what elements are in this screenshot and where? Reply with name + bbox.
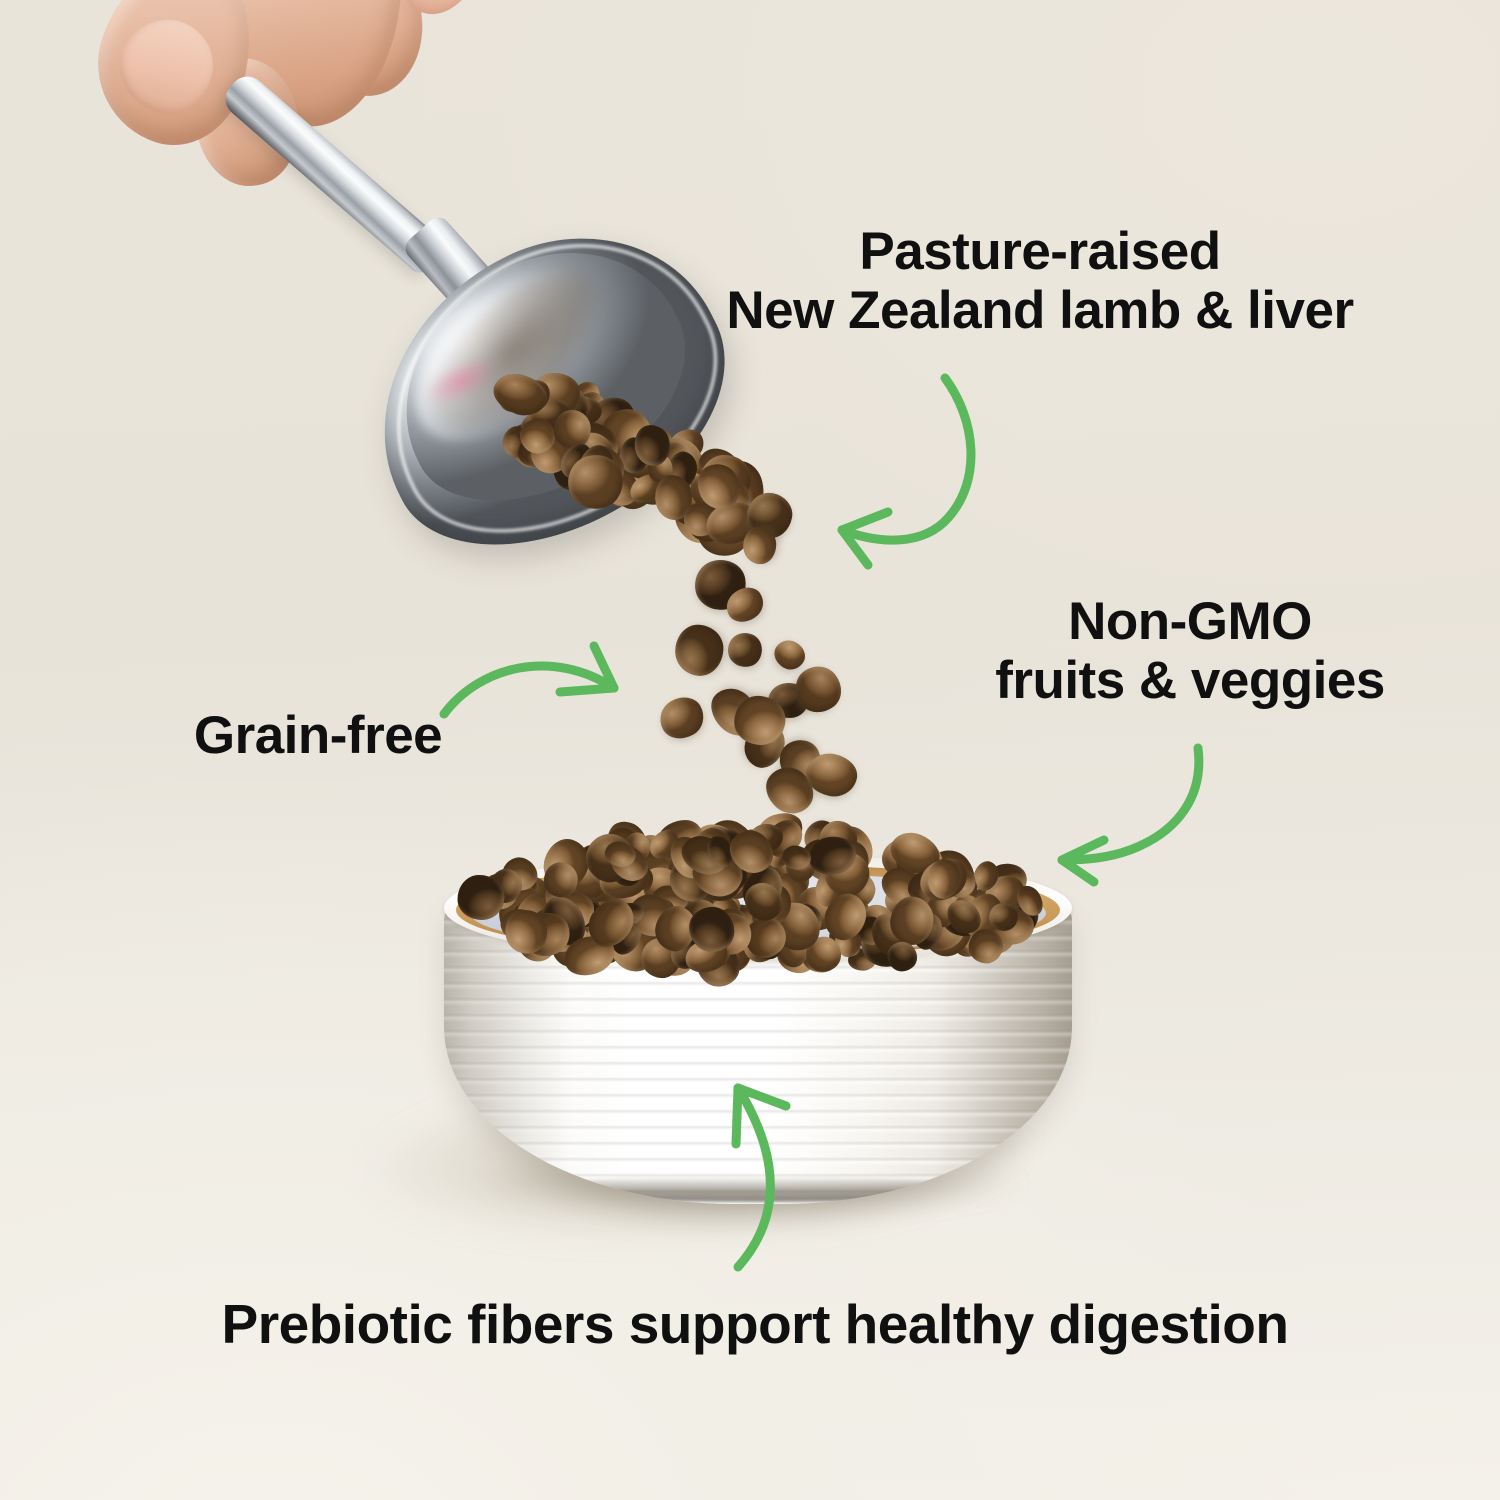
callout-non-gmo: Non-GMO fruits & veggies <box>905 592 1475 711</box>
arrow-pasture-raised <box>800 360 1030 570</box>
arrow-non-gmo <box>1038 740 1253 885</box>
arrow-prebiotic <box>694 1062 824 1277</box>
thumbnail <box>102 1 232 131</box>
callout-grain-free: Grain-free <box>108 706 528 765</box>
callout-prebiotic-fibers: Prebiotic fibers support healthy digesti… <box>60 1294 1450 1356</box>
product-feature-image: Pasture-raised New Zealand lamb & liver … <box>0 0 1500 1500</box>
bowl-interior <box>470 873 1046 953</box>
callout-pasture-raised: Pasture-raised New Zealand lamb & liver <box>620 222 1460 341</box>
